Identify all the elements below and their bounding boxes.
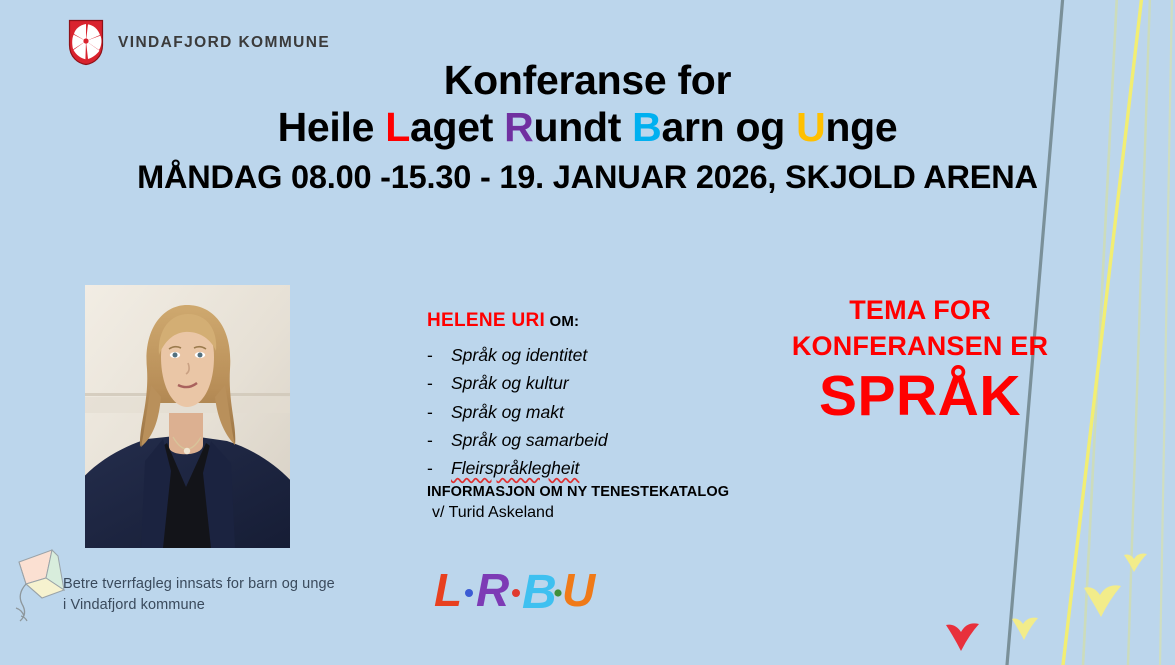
speaker-heading: HELENE URI OM: [427, 310, 767, 332]
speaker-name: HELENE URI [427, 310, 545, 331]
topic-label: Språk og samarbeid [451, 426, 608, 454]
bullet-dash: - [427, 398, 435, 426]
theme-line-2: KONFERANSEN ER [775, 329, 1065, 365]
topic-label: Språk og identitet [451, 341, 587, 369]
page-title: Konferanse for Heile Laget Rundt Barn og… [0, 58, 1175, 201]
list-item: - Språk og kultur [427, 369, 767, 397]
kite-bow-yellow-2 [1084, 585, 1121, 617]
conference-poster-slide: VINDAFJORD KOMMUNE Konferanse for Heile … [0, 0, 1175, 665]
title-seg-R: R [504, 104, 533, 150]
kite-bow-yellow-1 [1012, 618, 1038, 640]
lrbu-dot-3 [554, 589, 561, 596]
topics-list: - Språk og identitet - Språk og kultur -… [427, 341, 767, 483]
bullet-dash: - [427, 341, 435, 369]
kite-logo-text: Betre tverrfagleg innsats for barn og un… [63, 574, 335, 616]
bullet-dash: - [427, 454, 435, 482]
topic-label: Språk og makt [451, 398, 564, 426]
bullet-dash: - [427, 369, 435, 397]
kite-bow-red [946, 623, 979, 651]
title-seg-B: B [632, 104, 661, 150]
speaker-portrait-photo [85, 285, 290, 548]
list-item: - Fleirspråklegheit [427, 454, 767, 482]
conference-theme-block: TEMA FOR KONFERANSEN ER SPRÅK [775, 293, 1065, 428]
portrait-illustration [85, 285, 290, 548]
kite-logo-line-1: Betre tverrfagleg innsats for barn og un… [63, 574, 335, 595]
title-seg-undt: undt [533, 104, 632, 150]
lrbu-dot-2 [512, 589, 520, 597]
lrbu-letter-B: B [522, 566, 557, 619]
list-item: - Språk og samarbeid [427, 426, 767, 454]
info-subtext: v/ Turid Askeland [427, 504, 787, 522]
list-item: - Språk og identitet [427, 341, 767, 369]
topic-label: Språk og kultur [451, 369, 569, 397]
title-seg-arn-og: arn og [661, 104, 796, 150]
lrbu-dot-1 [465, 589, 473, 597]
title-line-3-datetime: MÅNDAG 08.00 -15.30 - 19. JANUAR 2026, S… [0, 154, 1175, 201]
municipality-name: VINDAFJORD KOMMUNE [118, 34, 330, 52]
info-block: INFORMASJON OM NY TENESTEKATALOG v/ Turi… [427, 484, 787, 522]
topic-label-spellchecked: Fleirspråklegheit [451, 454, 579, 482]
lrbu-letter-L: L [434, 564, 462, 616]
title-line-2: Heile Laget Rundt Barn og Unge [0, 102, 1175, 153]
lrbu-logo: L R B U [432, 558, 602, 620]
title-seg-nge: nge [825, 104, 897, 150]
speaker-om-label: OM: [545, 313, 579, 330]
kite-bow-yellow-3 [1124, 554, 1147, 572]
speaker-topics-block: HELENE URI OM: - Språk og identitet - Sp… [427, 310, 767, 483]
lrbu-letter-R: R [476, 564, 509, 616]
title-seg-U: U [796, 104, 825, 150]
title-line-1: Konferanse for [0, 58, 1175, 102]
theme-keyword: SPRÅK [775, 366, 1065, 428]
list-item: - Språk og makt [427, 398, 767, 426]
title-seg-L: L [385, 104, 410, 150]
lrbu-letter-U: U [562, 564, 597, 616]
bullet-dash: - [427, 426, 435, 454]
kite-logo-line-2: i Vindafjord kommune [63, 595, 335, 616]
title-seg-heile: Heile [278, 104, 386, 150]
theme-line-1: TEMA FOR [775, 293, 1065, 329]
info-heading: INFORMASJON OM NY TENESTEKATALOG [427, 484, 787, 500]
btiv-kite-logo: Betre tverrfagleg innsats for barn og un… [6, 546, 356, 622]
title-seg-aget: aget [410, 104, 504, 150]
